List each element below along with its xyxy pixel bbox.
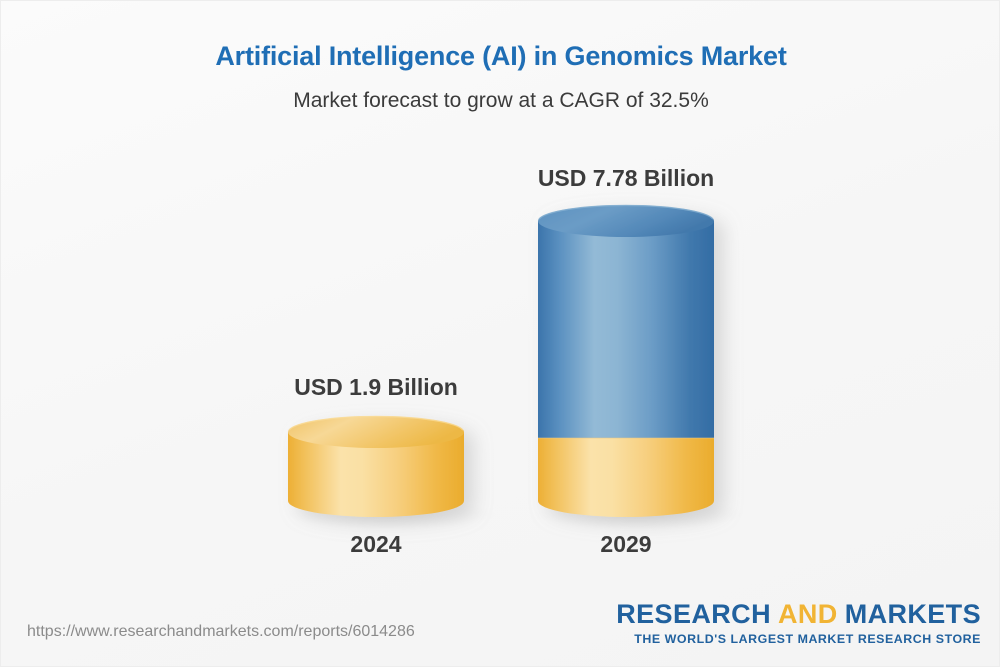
- infographic-canvas: Artificial Intelligence (AI) in Genomics…: [0, 0, 1000, 667]
- bar-cylinder-2024: [288, 416, 464, 517]
- bar-cylinder-2029: [538, 205, 714, 517]
- value-label-2029: USD 7.78 Billion: [466, 165, 786, 192]
- logo-word-research: RESEARCH: [616, 599, 771, 629]
- logo-word-markets: MARKETS: [845, 599, 981, 629]
- cylinder-bar-chart: [1, 1, 1000, 667]
- source-url[interactable]: https://www.researchandmarkets.com/repor…: [27, 623, 415, 641]
- logo-word-and: AND: [778, 599, 838, 629]
- value-label-2024: USD 1.9 Billion: [216, 374, 536, 401]
- logo-tagline: THE WORLD'S LARGEST MARKET RESEARCH STOR…: [616, 633, 981, 645]
- logo-wordmark: RESEARCHANDMARKETS: [616, 601, 981, 628]
- research-and-markets-logo[interactable]: RESEARCHANDMARKETS THE WORLD'S LARGEST M…: [616, 601, 981, 645]
- category-label-2029: 2029: [466, 531, 786, 558]
